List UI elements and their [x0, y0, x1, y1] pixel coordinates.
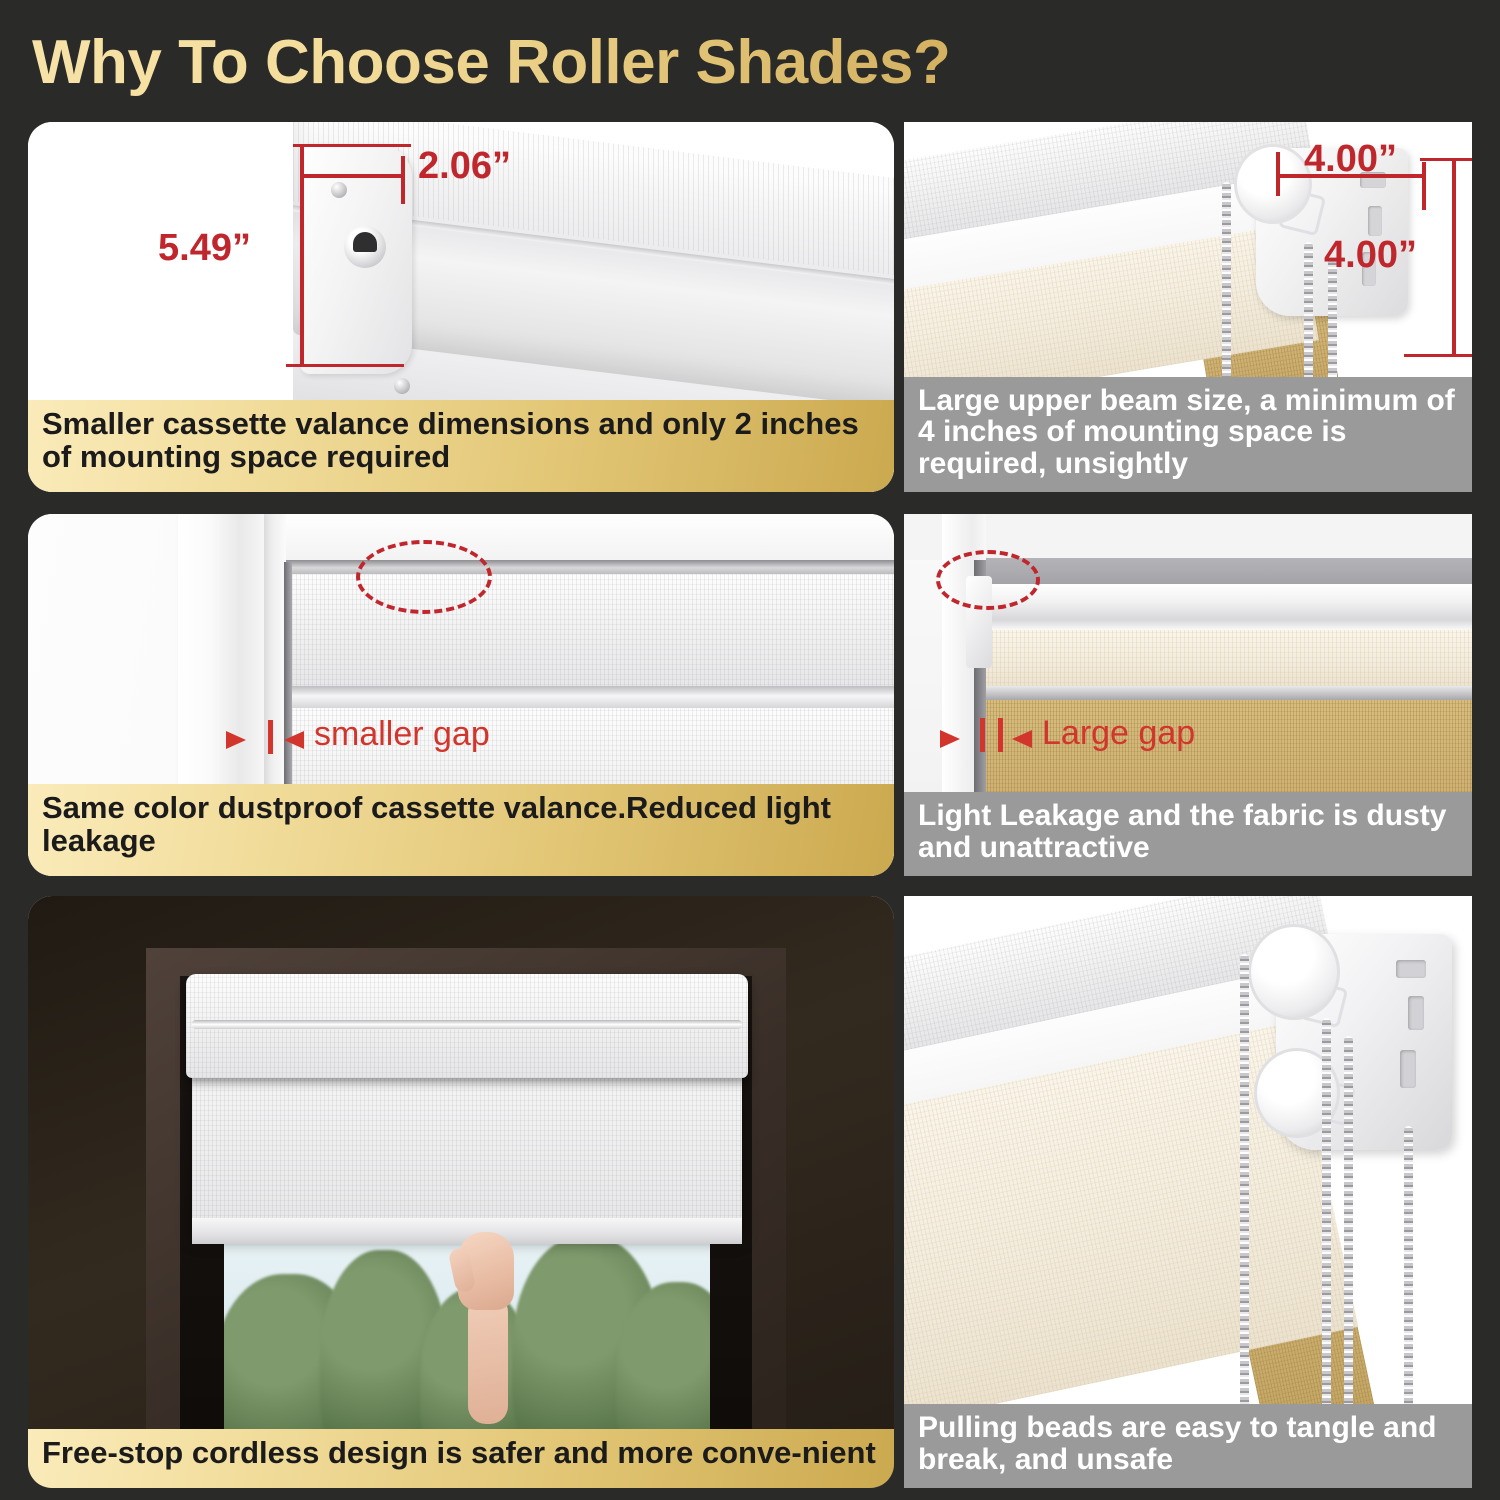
hand-reaching: [458, 1232, 514, 1422]
gap-arrow-left: [1012, 730, 1032, 748]
dim-guide-bottom: [1404, 354, 1472, 357]
highlight-ellipse-gap: [936, 550, 1040, 610]
caption-large-upper-beam: Large upper beam size, a minimum of 4 in…: [904, 377, 1472, 492]
gap-bar-inner: [998, 718, 1003, 752]
caption-light-leakage-dusty-fabric: Light Leakage and the fabric is dusty an…: [904, 792, 1472, 876]
panel-light-leakage-dusty-fabric[interactable]: Large gap Light Leakage and the fabric i…: [904, 514, 1472, 876]
label-smaller-gap: smaller gap: [314, 715, 490, 754]
caption-smaller-cassette-valance: Smaller cassette valance dimensions and …: [28, 400, 894, 492]
panel-free-stop-cordless-design[interactable]: Free-stop cordless design is safer and m…: [28, 896, 894, 1488]
dim-guide-bottom: [286, 364, 404, 367]
page-title: Why To Choose Roller Shades?: [32, 22, 1132, 104]
gap-bar-outer: [980, 718, 985, 752]
dim-line-width: [300, 174, 404, 178]
photo-window-scene: [28, 896, 894, 1488]
dim-tick-right: [1422, 162, 1426, 210]
dim-label-width: 2.06”: [418, 145, 511, 188]
dim-tick-right: [401, 156, 405, 204]
gap-arrow-right: [940, 730, 960, 748]
panel-large-upper-beam[interactable]: 4.00” 4.00” Large upper beam size, a min…: [904, 122, 1472, 492]
panel-pulling-beads-tangle[interactable]: Pulling beads are easy to tangle and bre…: [904, 896, 1472, 1488]
panel-smaller-cassette-valance[interactable]: 2.06” 5.49” Smaller cassette valance dim…: [28, 122, 894, 492]
comparison-grid: 2.06” 5.49” Smaller cassette valance dim…: [0, 110, 1500, 1500]
gap-arrow-left: [284, 731, 304, 749]
caption-same-color-dustproof-valance: Same color dustproof cassette valance.Re…: [28, 784, 894, 876]
dim-label-height: 5.49”: [158, 227, 251, 270]
caption-pulling-beads-tangle: Pulling beads are easy to tangle and bre…: [904, 1404, 1472, 1488]
dim-label-height: 4.00”: [1324, 234, 1417, 277]
dim-label-width: 4.00”: [1304, 138, 1397, 181]
highlight-ellipse-gap: [356, 540, 492, 614]
dim-guide-top: [293, 144, 411, 147]
dim-line-height: [300, 144, 304, 366]
bead-chain-front: [1240, 954, 1249, 1474]
dim-guide-top: [1420, 158, 1472, 161]
photo-bead-chains: [904, 896, 1472, 1488]
gap-bar: [268, 720, 273, 754]
caption-free-stop-cordless-design: Free-stop cordless design is safer and m…: [28, 1429, 894, 1488]
panel-same-color-dustproof-valance[interactable]: smaller gap Same color dustproof cassett…: [28, 514, 894, 876]
gap-arrow-right: [226, 731, 246, 749]
label-large-gap: Large gap: [1042, 714, 1195, 753]
dim-line-height: [1452, 158, 1456, 356]
